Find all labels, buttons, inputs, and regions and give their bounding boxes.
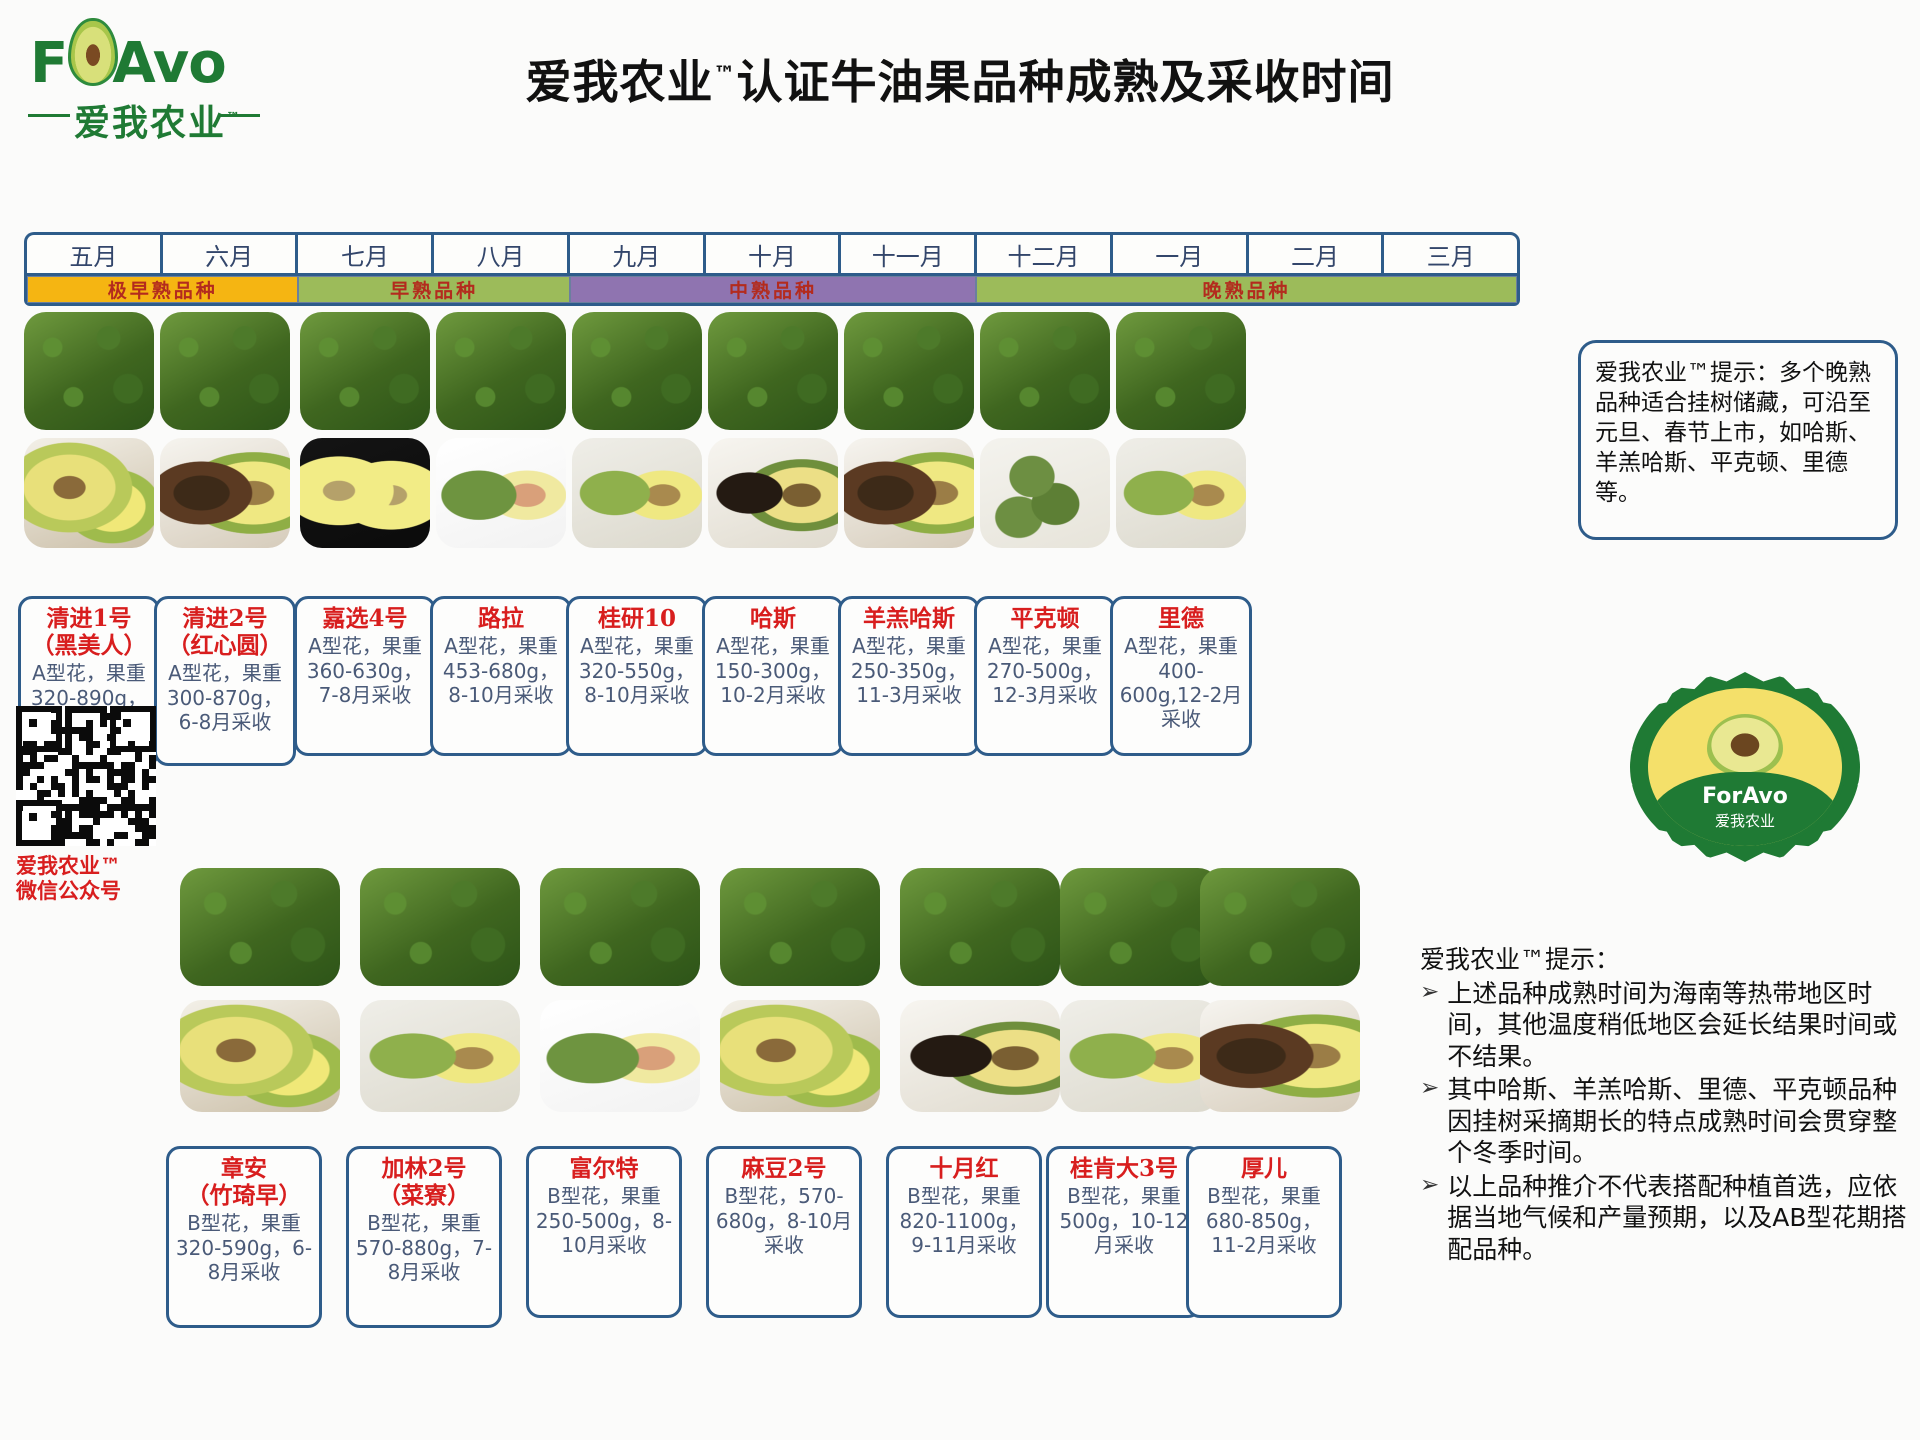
qr-module [58,727,65,734]
variety-card-r2-7[interactable]: 厚儿B型花，果重680-850g，11-2月采收 [1186,1146,1342,1318]
qr-module [16,748,23,755]
month-header-row: 五月六月七月八月九月十月十一月十二月一月二月三月 [24,232,1520,276]
qr-module [107,748,114,755]
qr-module [44,790,51,797]
tree-photo-r1-4 [436,312,566,430]
month-cell-11: 三月 [1381,232,1520,276]
qr-module [107,811,114,818]
qr-module [114,832,121,839]
month-cell-4: 八月 [431,232,567,276]
bullet-text: 上述品种成熟时间为海南等热带地区时间，其他温度稍低地区会延长结果时间或不结果。 [1447,978,1920,1073]
qr-caption-line1: 爱我农业™ [16,854,166,879]
month-cell-10: 二月 [1246,232,1382,276]
tip-bullet-3: ➢以上品种推介不代表搭配种植首选，应依据当地气候和产量预期，以及AB型花期搭配品… [1420,1171,1920,1266]
qr-module [100,797,107,804]
variety-description: B型花，果重570-880g，7-8月采收 [353,1211,495,1284]
qr-module [79,762,86,769]
fruit-photo-r1-2 [160,438,290,548]
qr-module [93,839,100,846]
qr-module [121,783,128,790]
variety-description: B型花，果重500g，10-12月采收 [1053,1184,1195,1257]
seal-brand-cn: 爱我农业 [1648,810,1842,831]
qr-module [107,769,114,776]
variety-card-r1-8[interactable]: 平克顿A型花，果重270-500g，12-3月采收 [974,596,1116,756]
qr-module [121,797,128,804]
bullet-arrow-icon: ➢ [1420,1171,1439,1266]
qr-module [37,762,44,769]
logo-rule-left [28,114,70,117]
qr-module [51,839,58,846]
tree-photo-r2-4 [720,868,880,986]
qr-module [114,804,121,811]
variety-name: 清进2号 [161,605,289,632]
qr-module [100,720,107,727]
tree-photo-r2-1 [180,868,340,986]
qr-module [121,762,128,769]
variety-alias: （黑美人） [25,632,153,659]
tree-photo-r2-6 [1060,868,1220,986]
qr-module [114,748,121,755]
variety-card-r2-1[interactable]: 章安（竹琦早）B型花，果重320-590g，6-8月采收 [166,1146,322,1328]
variety-name: 桂研10 [573,605,701,632]
qr-module [149,762,156,769]
month-cell-6: 十月 [703,232,839,276]
qr-module [135,839,142,846]
tree-photo-r2-7 [1200,868,1360,986]
qr-module [121,804,128,811]
qr-module [16,769,23,776]
variety-name: 富尔特 [533,1155,675,1182]
qr-module [135,818,142,825]
qr-module [51,825,58,832]
qr-module [86,748,93,755]
qr-module [16,755,23,762]
qr-module [86,804,93,811]
qr-module [79,811,86,818]
variety-name: 加林2号 [353,1155,495,1182]
qr-module [58,748,65,755]
qr-module [30,741,37,748]
variety-card-r2-2[interactable]: 加林2号（菜寮）B型花，果重570-880g，7-8月采收 [346,1146,502,1328]
qr-module [128,776,135,783]
qr-module [51,720,58,727]
qr-module [142,783,149,790]
fruit-photo-r2-5 [900,1000,1060,1112]
qr-module [86,832,93,839]
qr-module [128,797,135,804]
variety-card-r1-4[interactable]: 路拉A型花，果重453-680g，8-10月采收 [430,596,572,756]
variety-card-r1-7[interactable]: 羊羔哈斯A型花，果重250-350g，11-3月采收 [838,596,980,756]
fruit-photo-r1-5 [572,438,702,548]
variety-description: A型花，果重270-500g，12-3月采收 [981,634,1109,707]
bullet-arrow-icon: ➢ [1420,1074,1439,1169]
seal-avocado-icon [1707,714,1783,776]
variety-description: B型花，果重320-590g，6-8月采收 [173,1211,315,1284]
qr-module [100,755,107,762]
qr-module [79,797,86,804]
qr-module [100,706,107,713]
month-cell-1: 五月 [24,232,160,276]
qr-module [142,776,149,783]
qr-module [149,797,156,804]
season-band-row: 极早熟品种早熟品种中熟品种晚熟品种 [24,276,1520,306]
fruit-photo-r1-9 [1116,438,1246,548]
fruit-photo-r1-4 [436,438,566,548]
variety-name: 桂肯大3号 [1053,1155,1195,1182]
qr-module [58,832,65,839]
qr-module [86,839,93,846]
qr-module [142,804,149,811]
qr-module [114,706,121,713]
variety-card-r1-6[interactable]: 哈斯A型花，果重150-300g，10-2月采收 [702,596,844,756]
qr-module [149,811,156,818]
qr-module [65,832,72,839]
seal-label-band: ForAvo 爱我农业 [1648,772,1842,846]
qr-module [107,839,114,846]
variety-card-r1-5[interactable]: 桂研10A型花，果重320-550g，8-10月采收 [566,596,708,756]
qr-module [114,769,121,776]
variety-card-r1-2[interactable]: 清进2号（红心圆）A型花，果重300-870g，6-8月采收 [154,596,296,766]
qr-module [142,769,149,776]
tree-photo-r2-3 [540,868,700,986]
qr-module [114,727,121,734]
qr-module [86,811,93,818]
tree-photo-r2-5 [900,868,1060,986]
variety-card-r2-4[interactable]: 麻豆2号B型花，570-680g，8-10月采收 [706,1146,862,1318]
qr-module [86,706,93,713]
qr-module [114,790,121,797]
qr-module [86,720,93,727]
qr-module [114,783,121,790]
qr-module [121,776,128,783]
qr-module [72,762,79,769]
qr-module [135,811,142,818]
qr-module [65,825,72,832]
seal-brand-name: ForAvo [1648,784,1842,809]
qr-module [51,811,58,818]
qr-module [128,818,135,825]
qr-module [58,790,65,797]
qr-module [149,832,156,839]
qr-module [58,839,65,846]
qr-module [65,713,72,720]
qr-module [107,783,114,790]
qr-module [16,804,23,811]
tree-photo-r1-7 [844,312,974,430]
qr-code-image[interactable] [16,706,156,846]
qr-module [72,783,79,790]
variety-description: B型花，果重680-850g，11-2月采收 [1193,1184,1335,1257]
qr-module [72,804,79,811]
variety-name: 平克顿 [981,605,1109,632]
qr-module [107,804,114,811]
qr-module [65,727,72,734]
qr-module [65,811,72,818]
fruit-photo-r1-7 [844,438,974,548]
qr-module [16,762,23,769]
qr-module [72,769,79,776]
qr-module [51,783,58,790]
qr-module [93,776,100,783]
trademark-symbol: ™ [226,110,242,126]
variety-name: 路拉 [437,605,565,632]
variety-name: 厚儿 [1193,1155,1335,1182]
bullet-text: 以上品种推介不代表搭配种植首选，应依据当地气候和产量预期，以及AB型花期搭配品种… [1447,1171,1920,1266]
bullet-text: 其中哈斯、羊羔哈斯、里德、平克顿品种因挂树采摘期长的特点成熟时间会贯穿整个冬季时… [1447,1074,1920,1169]
qr-module [72,832,79,839]
qr-module [142,839,149,846]
qr-module [16,776,23,783]
fruit-photo-r2-2 [360,1000,520,1112]
fruit-photo-r2-7 [1200,1000,1360,1112]
wechat-qr-block: 爱我农业™ 微信公众号 [16,706,166,916]
tip-bullet-1: ➢上述品种成熟时间为海南等热带地区时间，其他温度稍低地区会延长结果时间或不结果。 [1420,978,1920,1073]
qr-module [107,762,114,769]
tree-photo-r1-9 [1116,312,1246,430]
qr-module [86,825,93,832]
qr-module [107,713,114,720]
qr-module [142,818,149,825]
month-cell-5: 九月 [567,232,703,276]
qr-module [86,797,93,804]
season-band-3: 中熟品种 [570,276,976,303]
qr-module [86,741,93,748]
page-title: 爱我农业™认证牛油果品种成熟及采收时间 [0,46,1920,112]
qr-module [121,832,128,839]
qr-module [100,762,107,769]
seal-inner: ForAvo 爱我农业 [1644,684,1846,850]
qr-module [149,804,156,811]
variety-description: A型花，果重250-350g，11-3月采收 [845,634,973,707]
fruit-photo-r1-8 [980,438,1110,548]
qr-module [93,797,100,804]
qr-module [128,804,135,811]
variety-card-r1-3[interactable]: 嘉选4号A型花，果重360-630g，7-8月采收 [294,596,436,756]
variety-description: A型花，果重400-600g,12-2月采收 [1117,634,1245,732]
variety-card-r2-5[interactable]: 十月红B型花，果重820-1100g，9-11月采收 [886,1146,1042,1318]
month-cell-3: 七月 [295,232,431,276]
qr-module [23,748,30,755]
qr-module [100,713,107,720]
tree-photo-r1-5 [572,312,702,430]
qr-module [107,776,114,783]
variety-description: B型花，果重820-1100g，9-11月采收 [893,1184,1035,1257]
qr-module [65,769,72,776]
month-cell-2: 六月 [160,232,296,276]
qr-module [142,832,149,839]
qr-module [79,727,86,734]
qr-module [72,776,79,783]
qr-module [30,755,37,762]
certification-seal: ForAvo 爱我农业 [1630,672,1860,862]
qr-module [37,790,44,797]
qr-module [79,706,86,713]
bullet-arrow-icon: ➢ [1420,978,1439,1073]
month-cell-9: 一月 [1110,232,1246,276]
month-cell-7: 十一月 [838,232,974,276]
tree-photo-r1-3 [300,312,430,430]
variety-name: 十月红 [893,1155,1035,1182]
qr-module [58,818,65,825]
qr-module [58,804,65,811]
fruit-photo-r2-1 [180,1000,340,1112]
qr-module [79,804,86,811]
fruit-photo-r1-3 [300,438,430,548]
fruit-photo-r1-6 [708,438,838,548]
qr-module [23,762,30,769]
qr-module [30,762,37,769]
qr-module [135,755,142,762]
qr-module [93,804,100,811]
qr-module [135,804,142,811]
season-band-4: 晚熟品种 [976,276,1517,303]
qr-module [128,769,135,776]
qr-module [142,825,149,832]
qr-module [51,727,58,734]
qr-module [135,825,142,832]
month-cell-8: 十二月 [974,232,1110,276]
tree-photo-r1-2 [160,312,290,430]
qr-module [65,720,72,727]
qr-module [65,734,72,741]
variety-name: 清进1号 [25,605,153,632]
variety-name: 嘉选4号 [301,605,429,632]
variety-alias: （菜寮） [353,1182,495,1209]
variety-description: A型花，果重320-550g，8-10月采收 [573,634,701,707]
qr-module [93,741,100,748]
variety-description: A型花，果重150-300g，10-2月采收 [709,634,837,707]
qr-module [149,825,156,832]
tree-photo-r1-6 [708,312,838,430]
qr-module [65,748,72,755]
qr-module [37,797,44,804]
fruit-photo-r2-3 [540,1000,700,1112]
qr-module [23,769,30,776]
tree-photo-r1-8 [980,312,1110,430]
qr-module [44,741,51,748]
qr-module [86,769,93,776]
qr-module [51,755,58,762]
qr-module [65,741,72,748]
variety-name: 麻豆2号 [713,1155,855,1182]
qr-module [51,741,58,748]
qr-module [51,776,58,783]
fruit-photo-r1-1 [24,438,154,548]
qr-module [86,762,93,769]
qr-module [93,762,100,769]
tip-box-late-varieties: 爱我农业™提示：多个晚熟品种适合挂树储藏，可沿至元旦、春节上市，如哈斯、羊羔哈斯… [1578,340,1898,540]
tips-heading: 爱我农业™提示： [1420,944,1920,976]
qr-module [121,769,128,776]
variety-description: A型花，果重360-630g，7-8月采收 [301,634,429,707]
qr-module [30,748,37,755]
qr-module [79,825,86,832]
qr-module [128,741,135,748]
qr-module [107,734,114,741]
variety-card-r2-3[interactable]: 富尔特B型花，果重250-500g，8-10月采收 [526,1146,682,1318]
variety-description: A型花，果重300-870g，6-8月采收 [161,661,289,734]
qr-module [114,713,121,720]
qr-module [135,748,142,755]
title-trademark-icon: ™ [714,63,737,88]
tree-photo-r2-2 [360,868,520,986]
fruit-photo-r2-6 [1060,1000,1220,1112]
season-band-1: 极早熟品种 [27,276,298,303]
variety-name: 里德 [1117,605,1245,632]
fruit-photo-r2-4 [720,1000,880,1112]
qr-module [72,727,79,734]
qr-module [93,811,100,818]
qr-module [86,790,93,797]
qr-module [37,776,44,783]
qr-module [100,811,107,818]
qr-module [86,776,93,783]
qr-module [65,804,72,811]
qr-module [58,825,65,832]
qr-module [149,755,156,762]
qr-module [149,741,156,748]
variety-card-r1-9[interactable]: 里德A型花，果重400-600g,12-2月采收 [1110,596,1252,756]
variety-card-r2-6[interactable]: 桂肯大3号B型花，果重500g，10-12月采收 [1046,1146,1202,1318]
qr-module [79,832,86,839]
qr-module [128,790,135,797]
variety-name: 羊羔哈斯 [845,605,973,632]
variety-description: B型花，果重250-500g，8-10月采收 [533,1184,675,1257]
qr-module [121,811,128,818]
qr-module [58,783,65,790]
season-band-2: 早熟品种 [298,276,569,303]
qr-module [86,727,93,734]
qr-module [65,818,72,825]
qr-module [65,706,72,713]
tip-bullet-2: ➢其中哈斯、羊羔哈斯、里德、平克顿品种因挂树采摘期长的特点成熟时间会贯穿整个冬季… [1420,1074,1920,1169]
variety-description: A型花，果重453-680g，8-10月采收 [437,634,565,707]
variety-description: B型花，570-680g，8-10月采收 [713,1184,855,1257]
variety-alias: （竹琦早） [173,1182,315,1209]
variety-name: 哈斯 [709,605,837,632]
qr-module [79,734,86,741]
qr-module [93,706,100,713]
tree-photo-r1-1 [24,312,154,430]
qr-module [30,783,37,790]
qr-module [51,706,58,713]
qr-module [44,755,51,762]
qr-caption-line2: 微信公众号 [16,879,166,904]
page-header: F rAvo 爱我农业™ 爱我农业™认证牛油果品种成熟及采收时间 [0,0,1920,160]
qr-module [128,762,135,769]
qr-module [23,741,30,748]
qr-module [72,755,79,762]
qr-module [72,790,79,797]
qr-module [149,776,156,783]
qr-module [72,706,79,713]
qr-caption: 爱我农业™ 微信公众号 [16,854,166,904]
variety-alias: （红心圆） [161,632,289,659]
tips-list-bottom: 爱我农业™提示： ➢上述品种成熟时间为海南等热带地区时间，其他温度稍低地区会延长… [1420,944,1920,1267]
variety-name: 章安 [173,1155,315,1182]
qr-module [16,783,23,790]
qr-module [93,818,100,825]
qr-module [86,734,93,741]
qr-module [51,832,58,839]
